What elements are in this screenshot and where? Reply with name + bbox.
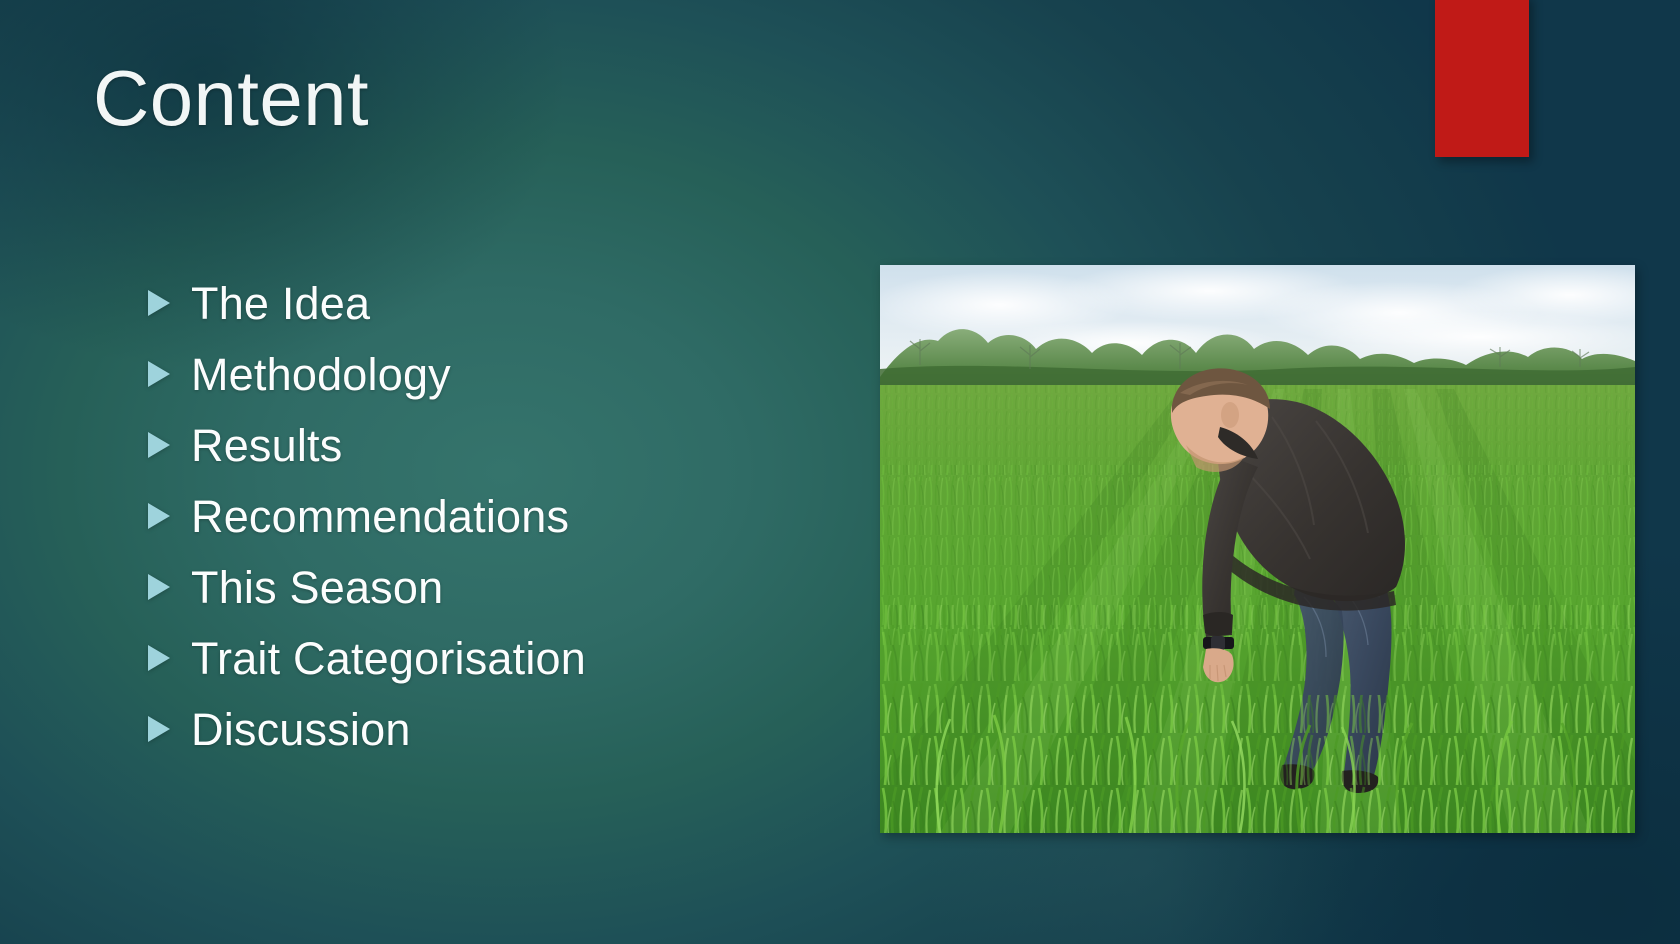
page-title: Content bbox=[93, 56, 369, 140]
triangle-right-icon bbox=[148, 574, 170, 601]
list-item-label: Results bbox=[191, 423, 342, 468]
triangle-right-icon bbox=[148, 290, 170, 317]
list-item[interactable]: The Idea bbox=[148, 268, 848, 339]
list-item-label: Methodology bbox=[191, 352, 451, 397]
list-item[interactable]: Recommendations bbox=[148, 481, 848, 552]
list-item[interactable]: Discussion bbox=[148, 694, 848, 765]
list-item-label: Discussion bbox=[191, 707, 411, 752]
list-item-label: This Season bbox=[191, 565, 443, 610]
triangle-right-icon bbox=[148, 432, 170, 459]
triangle-right-icon bbox=[148, 716, 170, 743]
list-item[interactable]: Results bbox=[148, 410, 848, 481]
crop-field-illustration bbox=[880, 265, 1635, 833]
list-item[interactable]: This Season bbox=[148, 552, 848, 623]
list-item[interactable]: Trait Categorisation bbox=[148, 623, 848, 694]
triangle-right-icon bbox=[148, 361, 170, 388]
list-item-label: Trait Categorisation bbox=[191, 636, 586, 681]
list-item-label: Recommendations bbox=[191, 494, 569, 539]
presentation-slide: Content The Idea Methodology Results Rec… bbox=[0, 0, 1680, 944]
red-accent-rectangle bbox=[1435, 0, 1529, 157]
triangle-right-icon bbox=[148, 503, 170, 530]
list-item[interactable]: Methodology bbox=[148, 339, 848, 410]
crop-field-photo bbox=[880, 265, 1635, 833]
list-item-label: The Idea bbox=[191, 281, 370, 326]
content-list: The Idea Methodology Results Recommendat… bbox=[148, 268, 848, 765]
triangle-right-icon bbox=[148, 645, 170, 672]
